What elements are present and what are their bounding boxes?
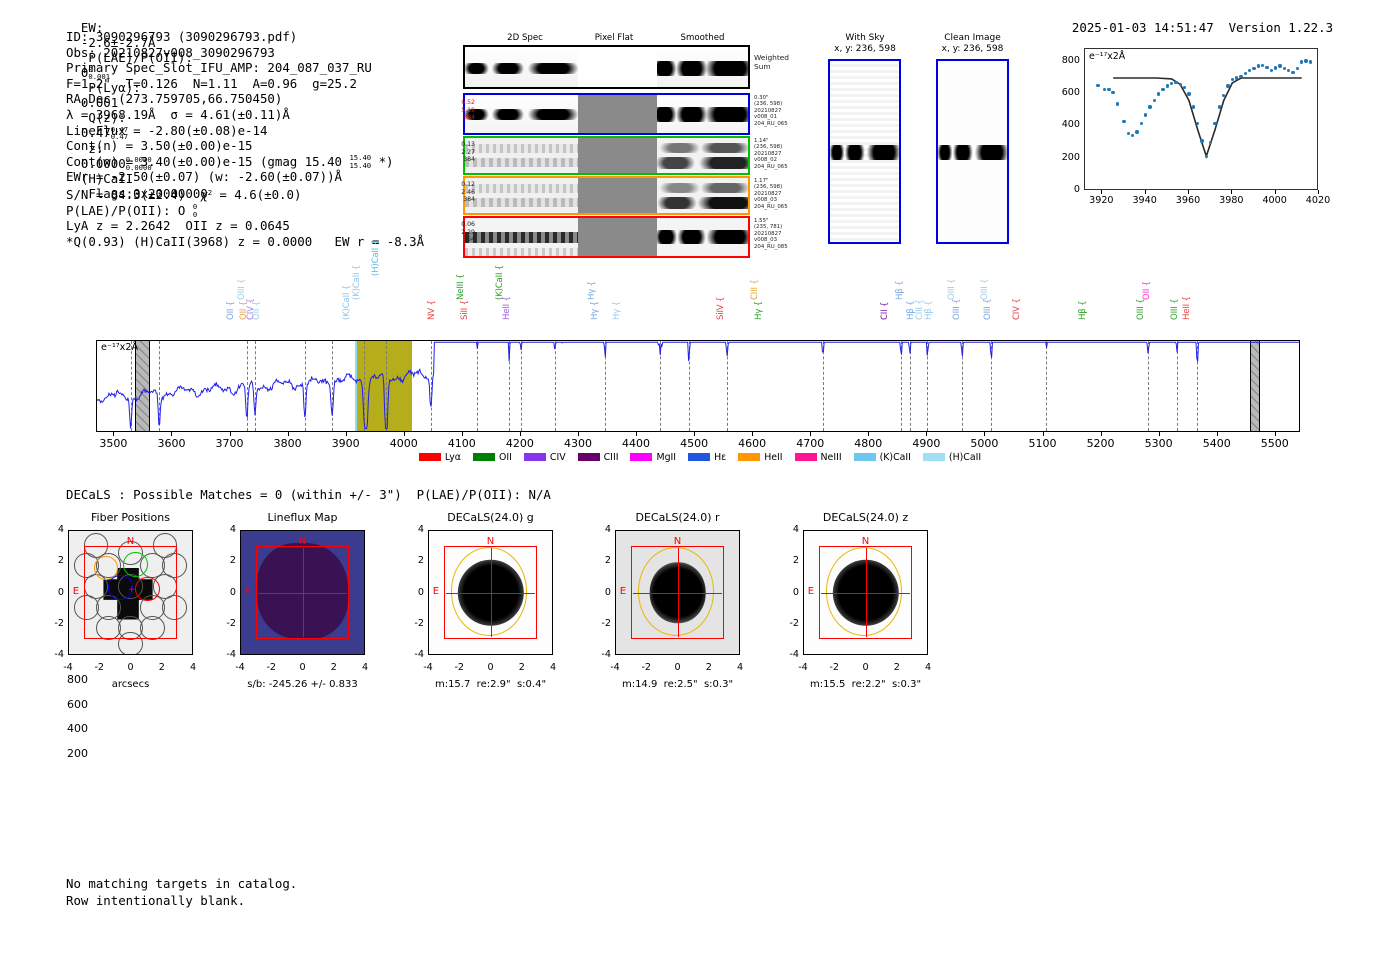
weighted-sum-2dspec — [465, 47, 578, 87]
spectrum-x-tickmark — [171, 432, 172, 436]
cutout-panel-lineflux[interactable]: Lineflux MapNEs/b: -245.26 +/- 0.833-4-4… — [240, 530, 365, 655]
spectrum-x-tick: 4300 — [548, 437, 608, 450]
clean-image-title: Clean Imagex, y: 236, 598 — [925, 33, 1020, 55]
emission-line-label: Hγ { — [590, 301, 600, 320]
line-fit-x-tickmark — [1145, 190, 1146, 194]
spectrum-x-tickmark — [984, 432, 985, 436]
cutout-y-tick: 0 — [44, 587, 64, 598]
chi-symbol: χ — [200, 187, 207, 202]
cutout-y-tick: 0 — [404, 587, 424, 598]
legend-item: (H)CaII — [923, 452, 981, 463]
legend-swatch — [688, 453, 710, 461]
spectrum-x-tick: 5200 — [1071, 437, 1131, 450]
line-fit-data-point — [1187, 92, 1190, 95]
spectrum-x-tick: 4900 — [896, 437, 956, 450]
crosshair-vertical — [303, 548, 304, 637]
line-fit-data-point — [1111, 91, 1114, 94]
legend-swatch — [578, 453, 600, 461]
cutout-y-tick: -4 — [44, 649, 64, 660]
cutout-footer: m:14.9 re:2.5" s:0.3" — [615, 679, 740, 690]
info-ewr: EWr = -2.50(±0.07) (w: -2.60(±0.07))Å — [66, 169, 424, 185]
legend-swatch — [923, 453, 945, 461]
cutout-image[interactable]: NE — [803, 530, 928, 655]
line-fit-data-point — [1174, 81, 1177, 84]
spectrum-x-tickmark — [404, 432, 405, 436]
line-fit-data-point — [1257, 64, 1260, 67]
weighted-sum-label: Weighted Sum — [754, 53, 789, 71]
line-fit-data-point — [1278, 64, 1281, 67]
cont-w-pre: Cont(w) = 3.40(±0.00)e-15 (gmag 15.40 — [66, 154, 349, 169]
legend-swatch — [419, 453, 441, 461]
emission-line-label: Hγ { — [754, 301, 764, 320]
cutout-image[interactable]: NE — [240, 530, 365, 655]
cutout-x-tick: 4 — [543, 662, 563, 673]
compass-north-label: N — [862, 536, 869, 547]
emission-line-label: SiIV { — [716, 297, 726, 320]
spectrum-x-tickmark — [288, 432, 289, 436]
cutout-footer: arcsecs — [68, 679, 193, 690]
emission-line-label: OII { — [226, 301, 236, 320]
cutout-x-tick: 0 — [481, 662, 501, 673]
plae-line-pre: P(LAE)/P(OII): O — [66, 203, 193, 218]
legend-item: MgII — [630, 452, 676, 463]
spectrum-x-tickmark — [230, 432, 231, 436]
clean-image-image[interactable] — [936, 59, 1009, 244]
crosshair-vertical — [866, 548, 867, 637]
legend-label: Lyα — [445, 452, 461, 463]
cutout-y-tick: 4 — [779, 524, 799, 535]
cutout-y-tick: 4 — [591, 524, 611, 535]
emission-line-label: CII { — [880, 302, 890, 320]
cutout-y-tick: -2 — [404, 618, 424, 629]
footer-line-1: No matching targets in catalog. — [66, 876, 297, 893]
spectrum-x-tick: 4800 — [838, 437, 898, 450]
line-fit-x-tick: 3920 — [1079, 195, 1123, 206]
emission-line-label: OIII { — [1170, 299, 1180, 320]
spectrum-x-tick: 4200 — [490, 437, 550, 450]
line-fit-data-point — [1296, 67, 1299, 70]
legend-item: (K)CaII — [854, 452, 911, 463]
spectrum-x-tickmark — [810, 432, 811, 436]
emission-line-label: Hγ { — [587, 281, 597, 300]
emission-line-label: NeIII { — [456, 274, 466, 300]
compass-north-label: N — [674, 536, 681, 547]
emission-line-label: CIV { — [1012, 298, 1022, 320]
line-fit-chart: e⁻¹⁷x2Å 0200400600800 392039403960398040… — [1046, 42, 1318, 224]
info-cont-w: Cont(w) = 3.40(±0.00)e-15 (gmag 15.40 15… — [66, 154, 424, 170]
crosshair-vertical — [678, 548, 679, 637]
line-fit-x-tick: 4000 — [1253, 195, 1297, 206]
cutout-footer: m:15.5 re:2.2" s:0.3" — [803, 679, 928, 690]
cutout-x-tick: 0 — [121, 662, 141, 673]
line-fit-data-point — [1140, 122, 1143, 125]
cutout-y-tick: -4 — [404, 649, 424, 660]
cutout-x-tick: 0 — [293, 662, 313, 673]
cutout-x-tick: -2 — [449, 662, 469, 673]
legend-label: CIII — [604, 452, 619, 463]
emission-line-label: Hγ { — [612, 301, 622, 320]
cutout-title: Lineflux Map — [240, 511, 365, 524]
spec2d-row1-values: 0.525.19384 — [437, 99, 475, 122]
spectrum-legend: LyαOIICIVCIIIMgIIHεHeIINeIII(K)CaII(H)Ca… — [0, 452, 1400, 463]
legend-swatch — [524, 453, 546, 461]
spec2d-weighted-sum-panel — [463, 45, 750, 89]
line-fit-y-tick: 600 — [1046, 87, 1080, 98]
info-cont-n: Cont(n) = 3.50(±0.00)e-15 — [66, 138, 424, 154]
compass-north-label: N — [487, 536, 494, 547]
legend-label: Hε — [714, 452, 726, 463]
crosshair-vertical — [491, 548, 492, 637]
emission-line-label: CIII { — [750, 279, 760, 300]
line-fit-data-point — [1192, 105, 1195, 108]
legend-label: (H)CaII — [949, 452, 981, 463]
line-fit-data-point — [1096, 84, 1099, 87]
cutout-x-tick: 2 — [887, 662, 907, 673]
report-datetime: 2025-01-03 14:51:47 — [1072, 20, 1214, 35]
cutout-image[interactable]: NE — [615, 530, 740, 655]
cutout-image[interactable]: NE — [428, 530, 553, 655]
with-sky-image[interactable] — [828, 59, 901, 244]
spectrum-x-tick: 5500 — [1245, 437, 1305, 450]
spectrum-x-tickmark — [752, 432, 753, 436]
cutout-y-tick: -4 — [591, 649, 611, 660]
compass-east-label: E — [73, 586, 79, 597]
spec2d-row2-meta: 1.14" (236, 598) 20210827 v008_02 204_RU… — [754, 138, 788, 170]
emission-line-label: HeII { — [1182, 296, 1192, 320]
spectrum-x-tick: 4000 — [374, 437, 434, 450]
spec2d-row1-meta: 0.30" (236, 598) 20210827 v008_01 204_RU… — [754, 95, 788, 127]
emission-line-label: HeII { — [502, 296, 512, 320]
spec2d-row3-values: 0.122.46384 — [437, 181, 475, 204]
legend-item: Lyα — [419, 452, 461, 463]
cutout-y-tick: 4 — [404, 524, 424, 535]
spec2d-fiber-row-1[interactable] — [463, 93, 750, 135]
spec2d-panel-group: 2D Spec Pixel Flat Smoothed Weighted Sum… — [455, 33, 805, 258]
emission-line-label: (K)CaII { — [495, 265, 505, 300]
info-lineflux: LineFlux = -2.80(±0.08)e-14 — [66, 123, 424, 139]
emission-line-label: OIII { — [983, 299, 993, 320]
cutout-y-tick: 2 — [44, 555, 64, 566]
spectrum-x-tickmark — [520, 432, 521, 436]
spectrum-x-tick: 4100 — [432, 437, 492, 450]
spectrum-x-tick: 4400 — [606, 437, 666, 450]
emission-line-label: Hβ { — [924, 301, 934, 320]
cutout-x-tick: -2 — [636, 662, 656, 673]
spectrum-x-tickmark — [1043, 432, 1044, 436]
line-fit-data-point — [1304, 59, 1307, 62]
cutout-y-tick: -2 — [591, 618, 611, 629]
line-fit-x-tick: 3940 — [1123, 195, 1167, 206]
compass-east-label: E — [620, 586, 626, 597]
sn-pre: S/N = 84.3(±2.4) — [66, 187, 200, 202]
spectrum-y-axis: 200400600800 — [0, 330, 96, 440]
legend-item: OII — [473, 452, 512, 463]
cutout-y-tick: 2 — [216, 555, 236, 566]
with-sky-title: With Skyx, y: 236, 598 — [820, 33, 910, 55]
info-sn-chi2: S/N = 84.3(±2.4) χ2 = 4.6(±0.0) — [66, 185, 424, 203]
cutout-y-tick: -2 — [779, 618, 799, 629]
spec2d-row3-meta: 1.17" (236, 598) 20210827 v008_03 204_RU… — [754, 178, 788, 210]
line-fit-data-point — [1252, 67, 1255, 70]
spectrum-x-tickmark — [1217, 432, 1218, 436]
cutout-x-tick: -4 — [605, 662, 625, 673]
legend-swatch — [854, 453, 876, 461]
info-wavelength-sigma: λ = 3968.19Å σ = 4.61(±0.11)Å — [66, 107, 424, 123]
spectrum-x-tick: 5100 — [1013, 437, 1073, 450]
cont-w-sub: 15.40 — [349, 161, 371, 170]
spectrum-x-tickmark — [694, 432, 695, 436]
legend-label: CIV — [550, 452, 566, 463]
line-fit-data-point — [1200, 139, 1203, 142]
cutout-y-tick: 4 — [216, 524, 236, 535]
legend-item: CIV — [524, 452, 566, 463]
info-primary-spec: Primary Spec_Slot_IFU_AMP: 204_087_037_R… — [66, 60, 424, 76]
cutout-x-tick: -2 — [261, 662, 281, 673]
spectrum-x-tick: 3800 — [258, 437, 318, 450]
spectrum-x-tickmark — [346, 432, 347, 436]
line-fit-data-point — [1300, 60, 1303, 63]
line-fit-x-tick: 3980 — [1209, 195, 1253, 206]
cutout-x-tick: -2 — [89, 662, 109, 673]
line-fit-data-point — [1309, 60, 1312, 63]
spectrum-x-tick: 3500 — [83, 437, 143, 450]
info-id: ID: 3090296793 (3090296793.pdf) — [66, 29, 424, 45]
main-spectrum-plot[interactable]: e⁻¹⁷x2Å — [96, 340, 1300, 432]
line-fit-model-curve — [1085, 49, 1318, 190]
legend-label: MgII — [656, 452, 676, 463]
spectrum-x-tickmark — [636, 432, 637, 436]
sn-post: = 4.6(±0.0) — [212, 187, 302, 202]
spectrum-x-tickmark — [1159, 432, 1160, 436]
cutout-panel-image[interactable]: DECaLS(24.0) rNEm:14.9 re:2.5" s:0.3"-4-… — [615, 530, 740, 655]
cutout-image[interactable]: +NE — [68, 530, 193, 655]
line-fit-x-tickmark — [1101, 190, 1102, 194]
spectrum-x-tickmark — [462, 432, 463, 436]
line-fit-data-point — [1148, 105, 1151, 108]
emission-line-label: Hβ { — [895, 281, 905, 300]
cutout-x-tick: 2 — [152, 662, 172, 673]
cutout-x-tick: 0 — [668, 662, 688, 673]
cont-w-post: *) — [371, 154, 393, 169]
spectrum-x-tick: 5400 — [1187, 437, 1247, 450]
cutout-y-tick: 2 — [404, 555, 424, 566]
spectrum-x-tickmark — [578, 432, 579, 436]
spec2d-fiber-row-2[interactable] — [463, 136, 750, 175]
spectrum-x-tick: 4700 — [780, 437, 840, 450]
source-info-block: ID: 3090296793 (3090296793.pdf) Obs: 202… — [66, 29, 424, 249]
cutout-y-tick: 0 — [216, 587, 236, 598]
decals-header: DECaLS : Possible Matches = 0 (within +/… — [66, 487, 551, 502]
line-fit-data-point — [1291, 71, 1294, 74]
spec2d-fiber-row-3[interactable] — [463, 176, 750, 215]
cutout-x-tick: -4 — [793, 662, 813, 673]
compass-east-label: E — [808, 586, 814, 597]
spectrum-x-tick: 4500 — [664, 437, 724, 450]
line-fit-x-tick: 3960 — [1166, 195, 1210, 206]
line-fit-data-point — [1213, 122, 1216, 125]
cutout-panel-fibers[interactable]: Fiber Positions+NEarcsecs-4-4-2-2002244 — [68, 530, 193, 655]
cutout-x-tick: 4 — [355, 662, 375, 673]
info-seeing: F=1.2" T=0.126 N=1.11 A=0.96 g=25.2 — [66, 76, 424, 92]
legend-label: OII — [499, 452, 512, 463]
compass-east-label: E — [433, 586, 439, 597]
cutout-panel-image[interactable]: DECaLS(24.0) gNEm:15.7 re:2.9" s:0.4"-4-… — [428, 530, 553, 655]
spectrum-x-tick: 5000 — [954, 437, 1014, 450]
line-fit-y-tick: 0 — [1046, 184, 1080, 195]
legend-item: NeIII — [795, 452, 842, 463]
spectrum-y-tick: 400 — [40, 722, 88, 735]
legend-swatch — [630, 453, 652, 461]
line-fit-data-point — [1205, 155, 1208, 158]
emission-line-label: (H)CaII { — [371, 240, 381, 276]
cutout-x-tick: -4 — [230, 662, 250, 673]
line-fit-x-tick: 4020 — [1296, 195, 1340, 206]
emission-line-label: OIII { — [980, 279, 990, 300]
cutout-title: Fiber Positions — [68, 511, 193, 524]
spec2d-fiber-row-4[interactable] — [463, 216, 750, 258]
footer-notes: No matching targets in catalog. Row inte… — [66, 876, 297, 909]
line-fit-data-point — [1270, 69, 1273, 72]
cutout-footer: m:15.7 re:2.9" s:0.4" — [428, 679, 553, 690]
clean-image-panel: Clean Imagex, y: 236, 598 — [925, 33, 1020, 258]
emission-line-label: (K)CaII { — [342, 285, 352, 320]
cutout-footer: s/b: -245.26 +/- 0.833 — [240, 679, 365, 690]
line-fit-plot-area: e⁻¹⁷x2Å — [1084, 48, 1318, 190]
spectrum-y-tick: 200 — [40, 747, 88, 760]
cutout-y-tick: -2 — [44, 618, 64, 629]
spec2d-row4-values: 0.062.29364 — [437, 221, 475, 244]
line-fit-y-tick: 200 — [1046, 152, 1080, 163]
spectrum-x-tickmark — [1275, 432, 1276, 436]
emission-line-label: SiII { — [460, 300, 470, 320]
weighted-sum-smoothed — [657, 47, 748, 87]
cutout-panel-image[interactable]: DECaLS(24.0) zNEm:15.5 re:2.2" s:0.3"-4-… — [803, 530, 928, 655]
emission-line-label: OIII { — [1136, 299, 1146, 320]
cutout-y-tick: -4 — [216, 649, 236, 660]
cutout-x-tick: 4 — [730, 662, 750, 673]
cutout-title: DECaLS(24.0) r — [615, 511, 740, 524]
report-version: Version 1.22.3 — [1229, 20, 1333, 35]
spectrum-x-tick: 3700 — [200, 437, 260, 450]
cutout-y-tick: 2 — [779, 555, 799, 566]
spectrum-x-tick: 5300 — [1129, 437, 1189, 450]
line-fit-data-point — [1265, 66, 1268, 69]
line-fit-data-point — [1244, 72, 1247, 75]
spec2d-row2-values: 0.132.27384 — [437, 141, 475, 164]
line-fit-x-tickmark — [1318, 190, 1319, 194]
line-fit-data-point — [1226, 84, 1229, 87]
spectrum-x-tickmark — [926, 432, 927, 436]
cutout-x-tick: -2 — [824, 662, 844, 673]
clean-image-coords: x, y: 236, 598 — [942, 44, 1004, 54]
emission-line-label: NV { — [427, 300, 437, 320]
spectrum-x-tick: 4600 — [722, 437, 782, 450]
spectrum-x-tick: 3900 — [316, 437, 376, 450]
cutout-y-tick: 0 — [591, 587, 611, 598]
line-fit-data-point — [1161, 88, 1164, 91]
line-fit-data-point — [1122, 120, 1125, 123]
info-plae-poii: P(LAE)/P(OII): O 00 — [66, 203, 424, 219]
spectrum-x-tickmark — [113, 432, 114, 436]
legend-item: CIII — [578, 452, 619, 463]
spec2d-row4-meta: 1.55" (235, 781) 20210827 v008_03 204_RU… — [754, 218, 788, 250]
emission-line-label: OII { — [1142, 281, 1152, 300]
with-sky-panel: With Skyx, y: 236, 598 — [820, 33, 910, 258]
cutout-x-tick: 2 — [699, 662, 719, 673]
with-sky-coords: x, y: 236, 598 — [834, 44, 896, 54]
spectrum-x-tick: 3600 — [141, 437, 201, 450]
compass-east-label: E — [245, 586, 251, 597]
cutout-x-tick: -4 — [58, 662, 78, 673]
cutout-x-tick: 2 — [512, 662, 532, 673]
line-fit-data-point — [1116, 102, 1119, 105]
legend-swatch — [738, 453, 760, 461]
target-marker: + — [128, 588, 133, 593]
spectrum-x-tickmark — [868, 432, 869, 436]
line-fit-data-point — [1135, 130, 1138, 133]
spectrum-x-tickmark — [1101, 432, 1102, 436]
line-fit-x-tickmark — [1275, 190, 1276, 194]
line-fit-data-point — [1166, 84, 1169, 87]
emission-line-label: Hβ { — [1078, 301, 1088, 320]
line-fit-x-tickmark — [1231, 190, 1232, 194]
legend-item: Hε — [688, 452, 726, 463]
line-fit-y-tick: 800 — [1046, 55, 1080, 66]
legend-label: (K)CaII — [880, 452, 911, 463]
info-obs: Obs: 20210827v008_3090296793 — [66, 45, 424, 61]
line-fit-data-point — [1107, 88, 1110, 91]
cutout-x-tick: 0 — [856, 662, 876, 673]
legend-label: NeIII — [821, 452, 842, 463]
cutout-x-tick: 4 — [183, 662, 203, 673]
footer-line-2: Row intentionally blank. — [66, 893, 297, 910]
cutout-panel-group: Fiber Positions+NEarcsecs-4-4-2-2002244L… — [0, 512, 1400, 722]
emission-line-label: OIII { — [237, 279, 247, 300]
cutout-title: DECaLS(24.0) z — [803, 511, 928, 524]
cutout-y-tick: 0 — [779, 587, 799, 598]
cutout-title: DECaLS(24.0) g — [428, 511, 553, 524]
info-redshifts: LyA z = 2.2642 OII z = 0.0645 — [66, 218, 424, 234]
emission-line-label: OIII { — [947, 279, 957, 300]
info-radec: RA,Dec (273.759705,66.750450) — [66, 91, 424, 107]
cutout-x-tick: 4 — [918, 662, 938, 673]
line-fit-data-point — [1283, 67, 1286, 70]
spec2d-col-title-2dspec: 2D Spec — [477, 33, 573, 43]
emission-line-label: OIII { — [952, 299, 962, 320]
cutout-y-tick: -2 — [216, 618, 236, 629]
spectrum-units-annotation: e⁻¹⁷x2Å — [101, 342, 138, 353]
spec2d-col-title-smoothed: Smoothed — [655, 33, 750, 43]
cutout-x-tick: -4 — [418, 662, 438, 673]
spec2d-col-title-pixelflat: Pixel Flat — [573, 33, 655, 43]
legend-item: HeII — [738, 452, 782, 463]
legend-swatch — [795, 453, 817, 461]
line-fit-y-tick: 400 — [1046, 119, 1080, 130]
cutout-y-tick: 2 — [591, 555, 611, 566]
legend-swatch — [473, 453, 495, 461]
legend-label: HeII — [764, 452, 782, 463]
compass-north-label: N — [127, 536, 134, 547]
spectrum-trace — [97, 341, 1299, 431]
line-fit-data-point — [1218, 105, 1221, 108]
emission-line-label: OII { — [252, 301, 262, 320]
emission-line-label-row: OII {OIII {OII {CIV {OII {(K)CaII {(K)Ca… — [0, 262, 1400, 342]
cutout-y-tick: -4 — [779, 649, 799, 660]
emission-line-label: (K)CaII { — [352, 265, 362, 300]
cutout-y-tick: 4 — [44, 524, 64, 535]
line-fit-data-point — [1239, 75, 1242, 78]
weighted-sum-pixelflat — [578, 47, 657, 87]
